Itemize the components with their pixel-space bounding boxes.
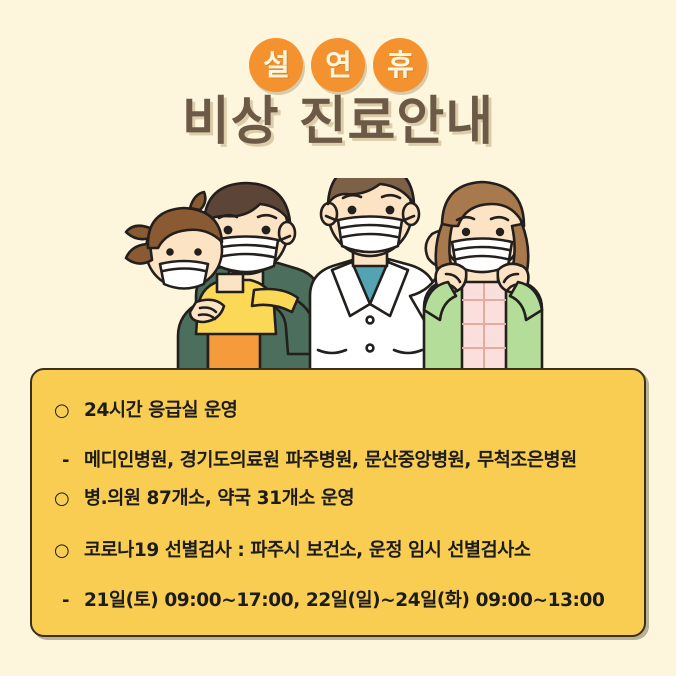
bullet-circle-icon: ○ [54,488,84,509]
info-line-clinics-pharmacies: ○ 병.의원 87개소, 약국 31개소 운영 [54,484,622,510]
holiday-badge-row: 설 연 휴 [0,38,676,92]
poster-root: 설 연 휴 비상 진료안내 .ol { stroke:#231f1c; stro… [0,0,676,676]
bullet-dash-icon: - [54,450,84,471]
info-line-text: 메디인병원, 경기도의료원 파주병원, 문산중앙병원, 무척조은병원 [84,446,577,472]
page-title: 비상 진료안내 [0,96,676,148]
info-line-covid-screening: ○ 코로나19 선별검사 : 파주시 보건소, 운정 임시 선별검사소 [54,536,622,562]
bullet-dash-icon: - [54,590,84,611]
title-block: 설 연 휴 비상 진료안내 [0,0,676,180]
info-line-text: 코로나19 선별검사 : 파주시 보건소, 운정 임시 선별검사소 [84,536,531,562]
holiday-badge-3: 휴 [373,38,427,92]
info-line-text: 24시간 응급실 운영 [84,396,237,422]
info-box: ○ 24시간 응급실 운영 - 메디인병원, 경기도의료원 파주병원, 문산중앙… [30,368,646,637]
bullet-circle-icon: ○ [54,540,84,561]
holiday-badge-2: 연 [311,38,365,92]
info-line-screening-hours: - 21일(토) 09:00~17:00, 22일(일)~24일(화) 09:0… [54,586,622,612]
holiday-badge-1: 설 [249,38,303,92]
info-line-hospital-list: - 메디인병원, 경기도의료원 파주병원, 문산중앙병원, 무척조은병원 [54,446,622,472]
info-line-text: 병.의원 87개소, 약국 31개소 운영 [84,484,354,510]
bullet-circle-icon: ○ [54,400,84,421]
info-line-emergency-room: ○ 24시간 응급실 운영 [54,396,622,422]
info-line-text: 21일(토) 09:00~17:00, 22일(일)~24일(화) 09:00~… [84,586,605,612]
family-doctor-illustration: .ol { stroke:#231f1c; stroke-width:2.6; … [0,178,676,370]
